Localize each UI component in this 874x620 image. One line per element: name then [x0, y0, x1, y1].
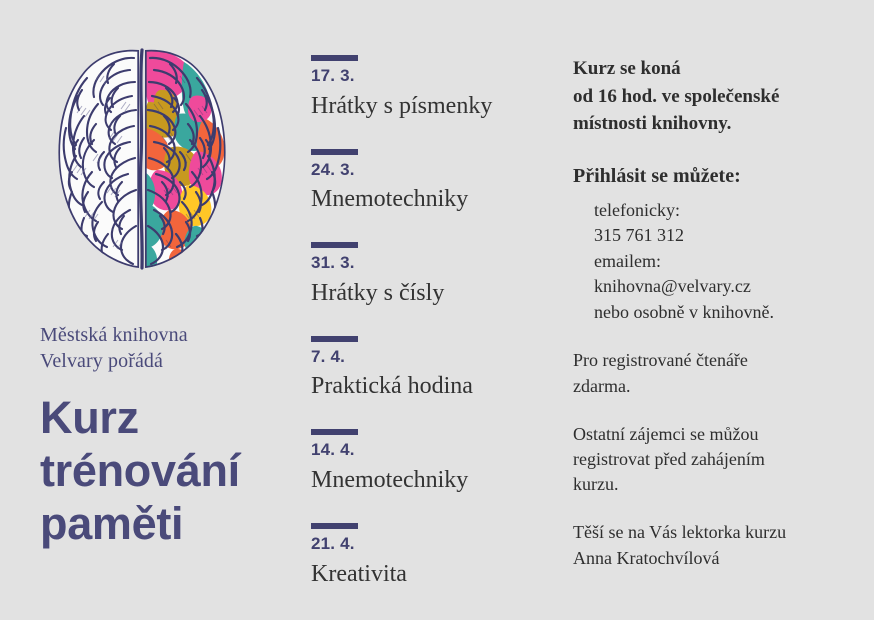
schedule-date: 21. 4.	[311, 535, 551, 554]
event-time-line-2: od 16 hod. ve společenské	[573, 83, 843, 111]
brain-right-hemisphere	[138, 50, 225, 273]
divider-dash	[311, 149, 358, 155]
schedule-list: 17. 3. Hrátky s písmenky 24. 3. Mnemotec…	[311, 55, 551, 587]
schedule-topic: Hrátky s čísly	[311, 280, 551, 307]
schedule-date: 31. 3.	[311, 254, 551, 273]
schedule-topic: Mnemotechniky	[311, 186, 551, 213]
brain-left-hemisphere	[58, 50, 139, 268]
divider-dash	[311, 336, 358, 342]
info-column: Kurz se koná od 16 hod. ve společenské m…	[573, 55, 843, 571]
note-other-applicants: Ostatní zájemci se můžou registrovat pře…	[573, 422, 843, 498]
event-time-block: Kurz se koná od 16 hod. ve společenské m…	[573, 55, 843, 138]
list-item: 7. 4. Praktická hodina	[311, 336, 551, 401]
note-lecturer: Těší se na Vás lektorka kurzu Anna Krato…	[573, 520, 843, 570]
contact-in-person: nebo osobně v knihovně.	[594, 300, 843, 326]
list-item: 17. 3. Hrátky s písmenky	[311, 55, 551, 120]
list-item: 31. 3. Hrátky s čísly	[311, 242, 551, 307]
contact-phone-label: telefonicky:	[594, 198, 843, 224]
schedule-date: 14. 4.	[311, 441, 551, 460]
title-line-3: paměti	[40, 497, 288, 550]
contact-email-label: emailem:	[594, 249, 843, 275]
title-line-1: Kurz	[40, 391, 288, 444]
contact-phone-number[interactable]: 315 761 312	[594, 223, 843, 249]
note1-line-1: Pro registrované čtenáře	[573, 348, 843, 373]
event-time-line-1: Kurz se koná	[573, 55, 843, 83]
signup-heading: Přihlásit se můžete:	[573, 162, 843, 190]
note2-line-2: registrovat před zahájením	[573, 447, 843, 472]
brain-icon	[42, 44, 242, 276]
schedule-topic: Mnemotechniky	[311, 467, 551, 494]
organizer-line-1: Městská knihovna	[40, 322, 288, 348]
note2-line-3: kurzu.	[573, 472, 843, 497]
event-time-line-3: místnosti knihovny.	[573, 110, 843, 138]
page-title: Kurz trénování paměti	[40, 391, 288, 550]
brain-central-fissure	[140, 50, 142, 268]
note1-line-2: zdarma.	[573, 374, 843, 399]
schedule-topic: Praktická hodina	[311, 373, 551, 400]
schedule-date: 17. 3.	[311, 67, 551, 86]
list-item: 21. 4. Kreativita	[311, 523, 551, 588]
title-line-2: trénování	[40, 444, 288, 497]
organizer-line-2: Velvary pořádá	[40, 348, 288, 374]
list-item: 24. 3. Mnemotechniky	[311, 149, 551, 214]
note3-line-1: Těší se na Vás lektorka kurzu	[573, 520, 843, 545]
divider-dash	[311, 242, 358, 248]
contact-block: telefonicky: 315 761 312 emailem: knihov…	[594, 198, 843, 326]
organizer-text: Městská knihovna Velvary pořádá	[40, 322, 288, 375]
schedule-topic: Hrátky s písmenky	[311, 93, 551, 120]
note-registered-readers: Pro registrované čtenáře zdarma.	[573, 348, 843, 398]
note2-line-1: Ostatní zájemci se můžou	[573, 422, 843, 447]
schedule-date: 24. 3.	[311, 161, 551, 180]
divider-dash	[311, 429, 358, 435]
left-column: Městská knihovna Velvary pořádá Kurz tré…	[40, 44, 288, 550]
lecturer-name: Anna Kratochvílová	[573, 546, 843, 571]
divider-dash	[311, 55, 358, 61]
schedule-topic: Kreativita	[311, 561, 551, 588]
poster-canvas: Městská knihovna Velvary pořádá Kurz tré…	[0, 0, 874, 620]
contact-email-address[interactable]: knihovna@velvary.cz	[594, 274, 843, 300]
divider-dash	[311, 523, 358, 529]
list-item: 14. 4. Mnemotechniky	[311, 429, 551, 494]
schedule-date: 7. 4.	[311, 348, 551, 367]
